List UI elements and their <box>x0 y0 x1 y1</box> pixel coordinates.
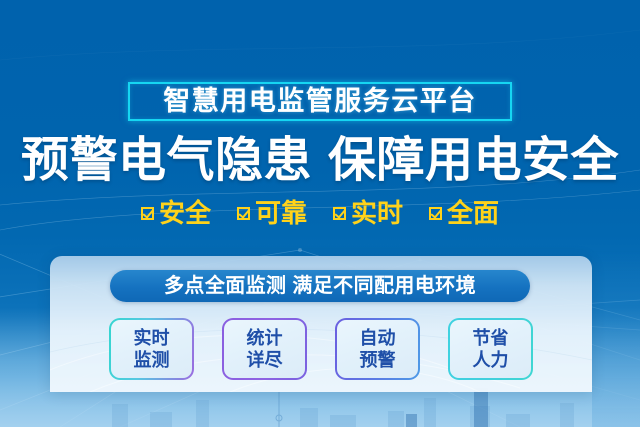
feature-checklist: 安全 可靠 实时 全面 <box>0 200 640 226</box>
feature-card-line-2: 人力 <box>473 350 509 370</box>
feature-card-line-1: 节省 <box>473 328 509 348</box>
feature-card-inner: 节省 人力 <box>450 320 531 378</box>
check-label: 安全 <box>159 200 211 226</box>
feature-card-save-manpower[interactable]: 节省 人力 <box>448 318 533 380</box>
feature-card-line-2: 详尽 <box>247 350 283 370</box>
check-item-realtime: 实时 <box>333 200 403 226</box>
check-item-safety: 安全 <box>141 200 211 226</box>
check-item-reliable: 可靠 <box>237 200 307 226</box>
feature-card-inner: 实时 监测 <box>111 320 192 378</box>
headline: 预警电气隐患保障用电安全 <box>0 137 640 185</box>
feature-card-line-1: 统计 <box>247 328 283 348</box>
checkbox-checked-icon <box>141 207 154 220</box>
platform-title-text: 智慧用电监管服务云平台 <box>163 88 477 115</box>
feature-card-list: 实时 监测 统计 详尽 自动 预警 节省 人力 <box>50 316 592 382</box>
checkbox-checked-icon <box>237 207 250 220</box>
feature-card-realtime-monitoring[interactable]: 实时 监测 <box>109 318 194 380</box>
feature-card-detailed-statistics[interactable]: 统计 详尽 <box>222 318 307 380</box>
feature-card-line-1: 自动 <box>360 328 396 348</box>
feature-card-inner: 统计 详尽 <box>224 320 305 378</box>
check-label: 全面 <box>447 200 499 226</box>
headline-part-2: 保障用电安全 <box>328 134 619 187</box>
panel-subheadline-pill: 多点全面监测 满足不同配用电环境 <box>110 270 530 302</box>
check-label: 实时 <box>351 200 403 226</box>
check-label: 可靠 <box>255 200 307 226</box>
feature-card-auto-alarm[interactable]: 自动 预警 <box>335 318 420 380</box>
headline-part-1: 预警电气隐患 <box>21 134 312 187</box>
promo-poster: 智慧用电监管服务云平台 预警电气隐患保障用电安全 安全 可靠 实时 全面 <box>0 0 640 427</box>
checkbox-checked-icon <box>429 207 442 220</box>
panel-subheadline-text: 多点全面监测 满足不同配用电环境 <box>164 276 476 296</box>
platform-title-frame: 智慧用电监管服务云平台 <box>128 82 512 121</box>
feature-card-line-2: 监测 <box>134 350 170 370</box>
check-item-comprehensive: 全面 <box>429 200 499 226</box>
right-edge-band <box>592 250 640 427</box>
feature-card-line-2: 预警 <box>360 350 396 370</box>
checkbox-checked-icon <box>333 207 346 220</box>
feature-card-line-1: 实时 <box>134 328 170 348</box>
feature-card-inner: 自动 预警 <box>337 320 418 378</box>
